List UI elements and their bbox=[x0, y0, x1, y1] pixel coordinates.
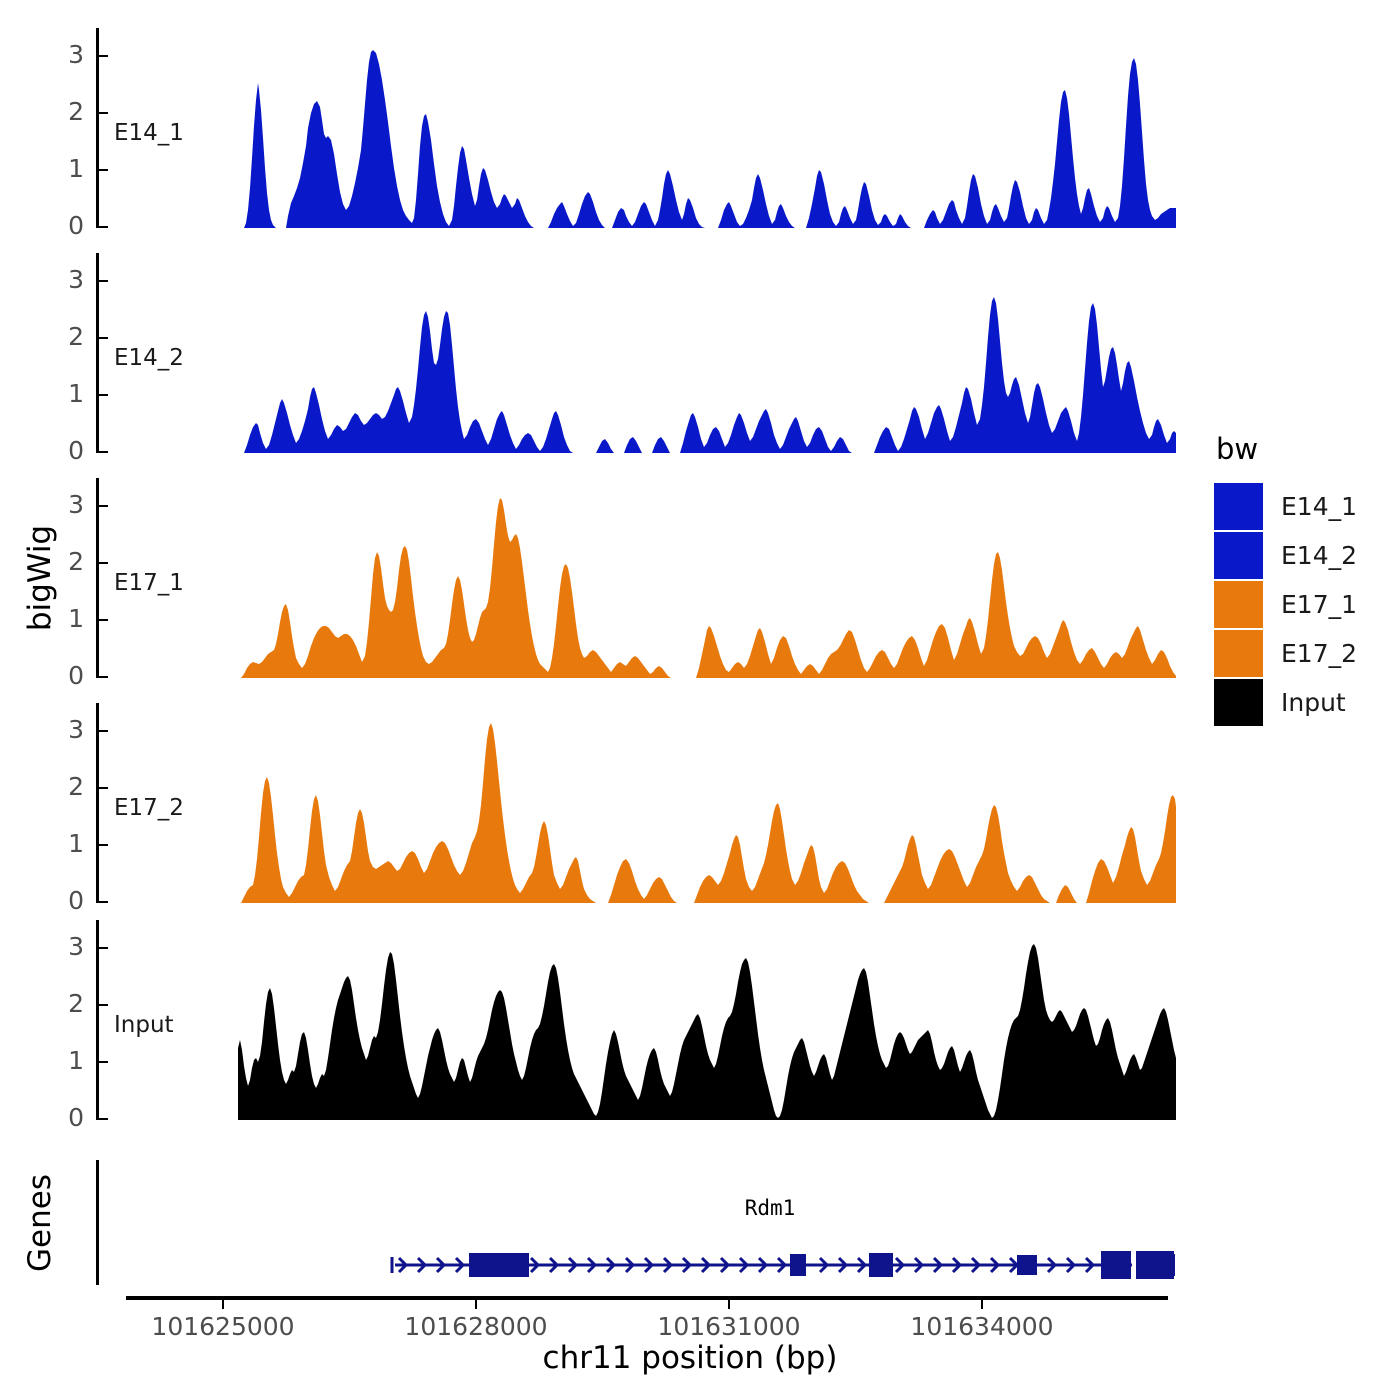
legend-title: bw bbox=[1216, 432, 1357, 466]
y-tick-label: 0 bbox=[38, 1105, 84, 1130]
y-tick-label: 1 bbox=[38, 606, 84, 631]
y-tick-label: 0 bbox=[38, 888, 84, 913]
track-panel-e14-2: 0 1 2 3 E14_2 bbox=[96, 253, 1176, 453]
legend-item-input[interactable]: Input bbox=[1214, 678, 1357, 727]
legend-swatch-input bbox=[1214, 679, 1263, 726]
track-area-e14-1 bbox=[96, 28, 1176, 228]
legend-label-e14-2: E14_2 bbox=[1281, 541, 1357, 570]
y-tick-label: 2 bbox=[38, 99, 84, 124]
gene-model-rdm1[interactable] bbox=[96, 1245, 1176, 1285]
legend: bw E14_1 E14_2 E17_1 E17_2 Input bbox=[1214, 432, 1357, 727]
y-tick-label: 1 bbox=[38, 831, 84, 856]
y-tick-label: 3 bbox=[38, 934, 84, 959]
y-tick-label: 0 bbox=[38, 663, 84, 688]
legend-swatch-e14-1 bbox=[1214, 483, 1263, 530]
y-tick-label: 1 bbox=[38, 156, 84, 181]
track-panel-e14-1: 0 1 2 3 E14_1 bbox=[96, 28, 1176, 228]
track-panel-e17-2: 0 1 2 3 E17_2 bbox=[96, 703, 1176, 903]
x-tick bbox=[222, 1300, 224, 1309]
x-tick bbox=[728, 1300, 730, 1309]
y-tick-label: 0 bbox=[38, 213, 84, 238]
x-tick bbox=[981, 1300, 983, 1309]
y-tick-label: 1 bbox=[38, 381, 84, 406]
track-area-e14-2 bbox=[96, 253, 1176, 453]
x-tick-label: 101628000 bbox=[376, 1312, 576, 1341]
y-tick-label: 3 bbox=[38, 717, 84, 742]
y-tick-label: 3 bbox=[38, 267, 84, 292]
y-tick-label: 3 bbox=[38, 42, 84, 67]
x-tick-label: 101631000 bbox=[629, 1312, 829, 1341]
y-tick-label: 3 bbox=[38, 492, 84, 517]
legend-label-e14-1: E14_1 bbox=[1281, 492, 1357, 521]
track-area-e17-1 bbox=[96, 478, 1176, 678]
x-tick-label: 101634000 bbox=[882, 1312, 1082, 1341]
legend-item-e17-2[interactable]: E17_2 bbox=[1214, 629, 1357, 678]
y-tick-label: 2 bbox=[38, 991, 84, 1016]
y-tick-label: 2 bbox=[38, 774, 84, 799]
legend-label-input: Input bbox=[1281, 688, 1346, 717]
x-axis-line bbox=[126, 1296, 1168, 1300]
genes-axis-title: Genes bbox=[22, 1123, 58, 1323]
x-tick-label: 101625000 bbox=[123, 1312, 323, 1341]
x-axis-title: chr11 position (bp) bbox=[200, 1340, 1180, 1376]
legend-swatch-e17-2 bbox=[1214, 630, 1263, 677]
legend-swatch-e17-1 bbox=[1214, 581, 1263, 628]
gene-label-rdm1: Rdm1 bbox=[660, 1196, 880, 1220]
legend-label-e17-2: E17_2 bbox=[1281, 639, 1357, 668]
track-panel-e17-1: 0 1 2 3 E17_1 bbox=[96, 478, 1176, 678]
track-area-e17-2 bbox=[96, 703, 1176, 903]
y-tick-label: 1 bbox=[38, 1048, 84, 1073]
legend-swatch-e14-2 bbox=[1214, 532, 1263, 579]
y-tick-label: 2 bbox=[38, 324, 84, 349]
track-area-input bbox=[96, 920, 1176, 1120]
track-panel-input: 0 1 2 3 Input bbox=[96, 920, 1176, 1120]
genome-browser-figure: bigWig Genes chr11 position (bp) 0 1 2 3… bbox=[0, 0, 1400, 1400]
legend-item-e17-1[interactable]: E17_1 bbox=[1214, 580, 1357, 629]
legend-item-e14-2[interactable]: E14_2 bbox=[1214, 531, 1357, 580]
y-tick-label: 2 bbox=[38, 549, 84, 574]
legend-item-e14-1[interactable]: E14_1 bbox=[1214, 482, 1357, 531]
legend-label-e17-1: E17_1 bbox=[1281, 590, 1357, 619]
x-tick bbox=[475, 1300, 477, 1309]
y-tick-label: 0 bbox=[38, 438, 84, 463]
